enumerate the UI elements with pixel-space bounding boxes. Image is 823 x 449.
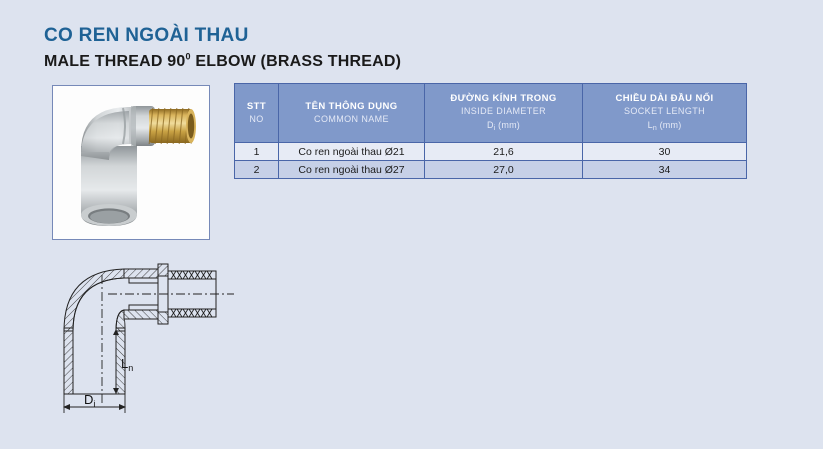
column-header-socket-length: CHIỀU DÀI ĐẦU NỐI SOCKET LENGTH Ln (mm) bbox=[583, 84, 747, 143]
technical-drawing-svg: Ln Di bbox=[58, 255, 248, 430]
page-title-vietnamese: CO REN NGOÀI THAU bbox=[44, 24, 401, 48]
specification-table: STT NO TÊN THÔNG DỤNG COMMON NAME ĐƯỜNG … bbox=[234, 83, 747, 179]
inside-diameter-symbol: Di (mm) bbox=[427, 118, 580, 134]
table-row: 2 Co ren ngoài thau Ø27 27,0 34 bbox=[235, 161, 747, 179]
page-title-english-prefix: MALE THREAD 90 bbox=[44, 53, 185, 70]
product-photo bbox=[53, 86, 209, 239]
column-header-no: STT NO bbox=[235, 84, 279, 143]
cell-inside-diameter: 27,0 bbox=[425, 161, 583, 179]
technical-drawing: Ln Di bbox=[58, 255, 248, 430]
cell-common-name: Co ren ngoài thau Ø21 bbox=[279, 143, 425, 161]
socket-length-symbol: Ln (mm) bbox=[585, 118, 744, 134]
cell-inside-diameter: 21,6 bbox=[425, 143, 583, 161]
cell-socket-length: 30 bbox=[583, 143, 747, 161]
page-title-english: MALE THREAD 900 ELBOW (BRASS THREAD) bbox=[44, 51, 401, 73]
cell-no: 2 bbox=[235, 161, 279, 179]
column-header-common-name: TÊN THÔNG DỤNG COMMON NAME bbox=[279, 84, 425, 143]
cell-no: 1 bbox=[235, 143, 279, 161]
cell-socket-length: 34 bbox=[583, 161, 747, 179]
page-title-english-suffix: ELBOW (BRASS THREAD) bbox=[191, 53, 401, 70]
product-photo-frame bbox=[52, 85, 210, 240]
dimension-label-inside-diameter: Di bbox=[84, 392, 95, 409]
cell-common-name: Co ren ngoài thau Ø27 bbox=[279, 161, 425, 179]
dimension-label-socket-length: Ln bbox=[121, 356, 133, 373]
table-row: 1 Co ren ngoài thau Ø21 21,6 30 bbox=[235, 143, 747, 161]
column-header-inside-diameter: ĐƯỜNG KÍNH TRONG INSIDE DIAMETER Di (mm) bbox=[425, 84, 583, 143]
page-title-block: CO REN NGOÀI THAU MALE THREAD 900 ELBOW … bbox=[44, 24, 401, 73]
table-header-row: STT NO TÊN THÔNG DỤNG COMMON NAME ĐƯỜNG … bbox=[235, 84, 747, 143]
